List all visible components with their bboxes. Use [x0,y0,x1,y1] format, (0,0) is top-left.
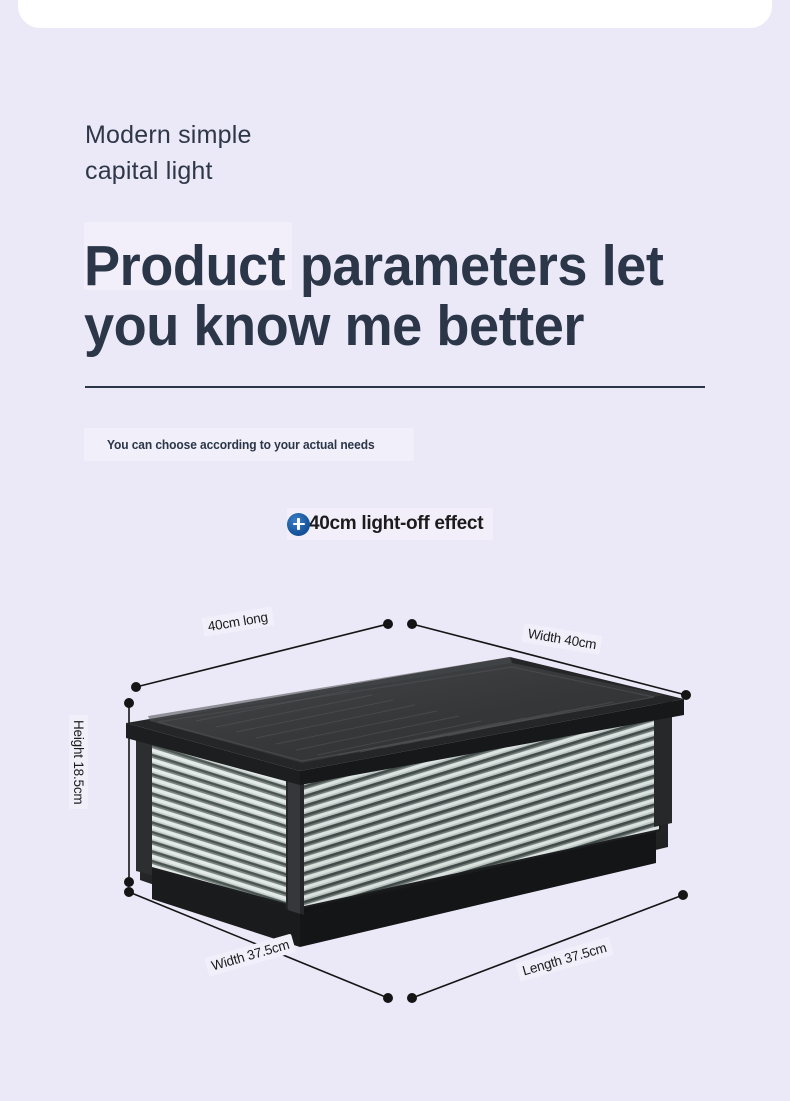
plus-icon [287,513,310,536]
subcaption: You can choose according to your actual … [107,437,375,453]
page-title: Product parameters let you know me bette… [84,236,692,356]
top-white-panel [18,0,772,28]
dimension-label-height: Height 18.5cm [69,715,88,809]
product-dimension-diagram [0,575,790,1045]
light-off-effect-badge: 40cm light-off effect [287,508,493,540]
badge-label: 40cm light-off effect [309,513,483,535]
lamp-body [126,657,684,947]
divider [85,386,705,388]
eyebrow-heading: Modern simple capital light [85,117,505,189]
